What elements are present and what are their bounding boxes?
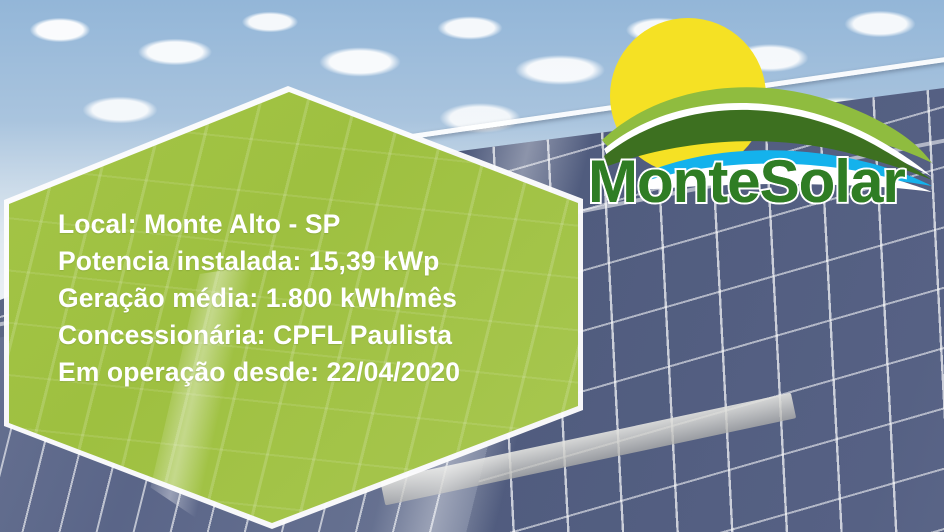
installation-details-list: Local: Monte Alto - SP Potencia instalad… bbox=[58, 206, 578, 391]
detail-line-geracao: Geração média: 1.800 kWh/mês bbox=[58, 280, 578, 317]
promo-card: Local: Monte Alto - SP Potencia instalad… bbox=[0, 0, 944, 532]
detail-line-potencia: Potencia instalada: 15,39 kWp bbox=[58, 243, 578, 280]
info-hexagon: Local: Monte Alto - SP Potencia instalad… bbox=[0, 0, 600, 532]
montesolar-logo: MonteSolar MonteSolar bbox=[580, 16, 944, 206]
logo-wordmark: MonteSolar bbox=[588, 152, 944, 212]
detail-line-local: Local: Monte Alto - SP bbox=[58, 206, 578, 243]
detail-line-concessionaria: Concessionária: CPFL Paulista bbox=[58, 317, 578, 354]
detail-line-operacao: Em operação desde: 22/04/2020 bbox=[58, 354, 578, 391]
